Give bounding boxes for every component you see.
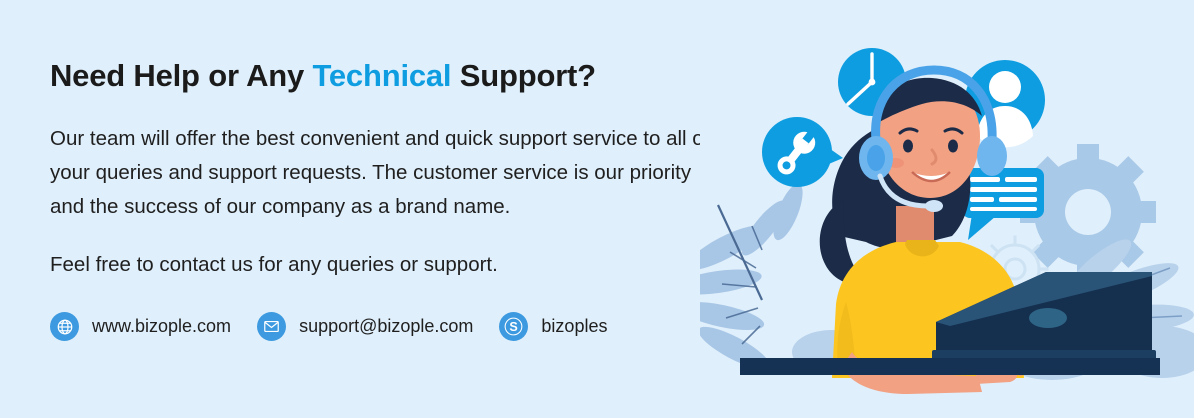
headline-accent-word: Technical bbox=[312, 58, 451, 93]
tagline-text: Feel free to contact us for any queries … bbox=[50, 250, 740, 280]
contact-row: www.bizople.com support@bizople.com bbox=[50, 312, 740, 341]
skype-icon: S bbox=[499, 312, 528, 341]
headline-text-after: Support? bbox=[451, 58, 596, 93]
globe-icon bbox=[50, 312, 79, 341]
support-banner: Need Help or Any Technical Support? Our … bbox=[0, 0, 1194, 418]
description-paragraph: Our team will offer the best convenient … bbox=[50, 122, 730, 224]
desk bbox=[740, 358, 1160, 375]
contact-item-email[interactable]: support@bizople.com bbox=[257, 312, 473, 341]
contact-item-skype[interactable]: S bizoples bbox=[499, 312, 607, 341]
skype-label: bizoples bbox=[541, 316, 607, 337]
support-illustration bbox=[700, 0, 1194, 418]
svg-text:S: S bbox=[510, 320, 518, 334]
contact-item-website[interactable]: www.bizople.com bbox=[50, 312, 231, 341]
envelope-icon bbox=[257, 312, 286, 341]
website-label: www.bizople.com bbox=[92, 316, 231, 337]
page-title: Need Help or Any Technical Support? bbox=[50, 58, 740, 94]
content-column: Need Help or Any Technical Support? Our … bbox=[50, 58, 740, 341]
headline-text-before: Need Help or Any bbox=[50, 58, 312, 93]
email-label: support@bizople.com bbox=[299, 316, 473, 337]
